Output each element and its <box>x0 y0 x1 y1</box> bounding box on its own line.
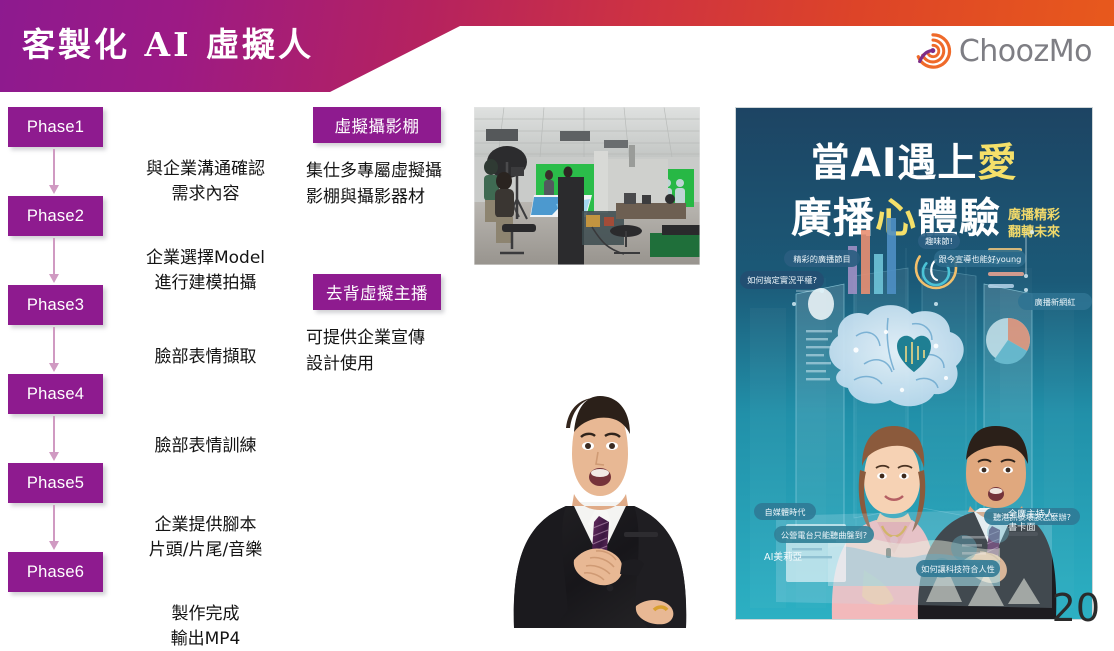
svg-text:如何搞定實況平權?: 如何搞定實況平權? <box>747 275 817 285</box>
choozmo-logo-text: ChoozMo <box>959 34 1092 69</box>
svg-text:全廣主持人: 全廣主持人 <box>1008 508 1054 520</box>
feature-chip-label: 虛擬攝影棚 <box>335 113 420 137</box>
phase-box-3[interactable]: Phase3 <box>8 285 103 325</box>
ai-radio-campaign-poster: 當AI遇上愛 廣播心體驗 廣播精彩 翻轉未來 <box>735 107 1093 620</box>
flow-arrow-3 <box>53 327 55 364</box>
page-number: 20 <box>1052 586 1100 630</box>
flow-arrow-5 <box>53 505 55 542</box>
feature-chip-1[interactable]: 虛擬攝影棚 <box>313 107 441 143</box>
svg-text:跟今宣導也能好young: 跟今宣導也能好young <box>939 254 1022 264</box>
feature-body-2: 可提供企業宣傳設計使用 <box>306 326 466 377</box>
phase-description-4: 臉部表情訓練 <box>118 434 293 459</box>
phase-label: Phase6 <box>27 563 84 582</box>
feature-body-1: 集仕多專屬虛擬攝影棚與攝影器材 <box>306 159 466 210</box>
svg-text:廣播精彩: 廣播精彩 <box>1008 207 1060 223</box>
svg-text:精彩的廣播節目: 精彩的廣播節目 <box>793 254 850 264</box>
flow-arrow-4 <box>53 416 55 453</box>
svg-text:AI美莉亞: AI美莉亞 <box>764 551 803 563</box>
phase-box-4[interactable]: Phase4 <box>8 374 103 414</box>
svg-text:如何讓科技符合人性: 如何讓科技符合人性 <box>921 564 995 574</box>
green-screen-studio-photo <box>474 107 700 265</box>
svg-text:廣播新網紅: 廣播新網紅 <box>1035 297 1076 307</box>
phase-box-6[interactable]: Phase6 <box>8 552 103 592</box>
page-title: 客製化 AI 虛擬人 <box>22 18 314 66</box>
phase-description-1: 與企業溝通確認需求內容 <box>118 157 293 206</box>
svg-text:翻轉未來: 翻轉未來 <box>1008 224 1061 240</box>
phase-description-5: 企業提供腳本片頭/片尾/音樂 <box>118 513 293 562</box>
svg-text:公營電台只能聽曲盤到?: 公營電台只能聽曲盤到? <box>781 530 867 540</box>
phase-label: Phase3 <box>27 296 84 315</box>
feature-chip-2[interactable]: 去背虛擬主播 <box>313 274 441 310</box>
phase-description-3: 臉部表情擷取 <box>118 345 293 370</box>
choozmo-logo: ChoozMo <box>914 32 1092 70</box>
flow-arrow-1 <box>53 149 55 186</box>
svg-text:書卡面: 書卡面 <box>1008 521 1036 533</box>
svg-text:自媒體時代: 自媒體時代 <box>765 507 806 517</box>
phase-label: Phase1 <box>27 118 84 137</box>
phase-box-1[interactable]: Phase1 <box>8 107 103 147</box>
choozmo-spiral-icon <box>914 32 952 70</box>
virtual-anchor-cutout-photo <box>478 310 722 628</box>
phase-label: Phase4 <box>27 385 84 404</box>
flow-arrow-2 <box>53 238 55 275</box>
feature-chip-label: 去背虛擬主播 <box>326 280 428 304</box>
phase-label: Phase2 <box>27 207 84 226</box>
svg-text:當AI遇上愛: 當AI遇上愛 <box>811 141 1018 186</box>
phase-box-2[interactable]: Phase2 <box>8 196 103 236</box>
phase-box-5[interactable]: Phase5 <box>8 463 103 503</box>
svg-text:趣味節!: 趣味節! <box>925 236 953 246</box>
phase-label: Phase5 <box>27 474 84 493</box>
phase-description-2: 企業選擇Model進行建模拍攝 <box>118 246 293 295</box>
phase-description-6: 製作完成輸出MP4 <box>118 602 293 651</box>
